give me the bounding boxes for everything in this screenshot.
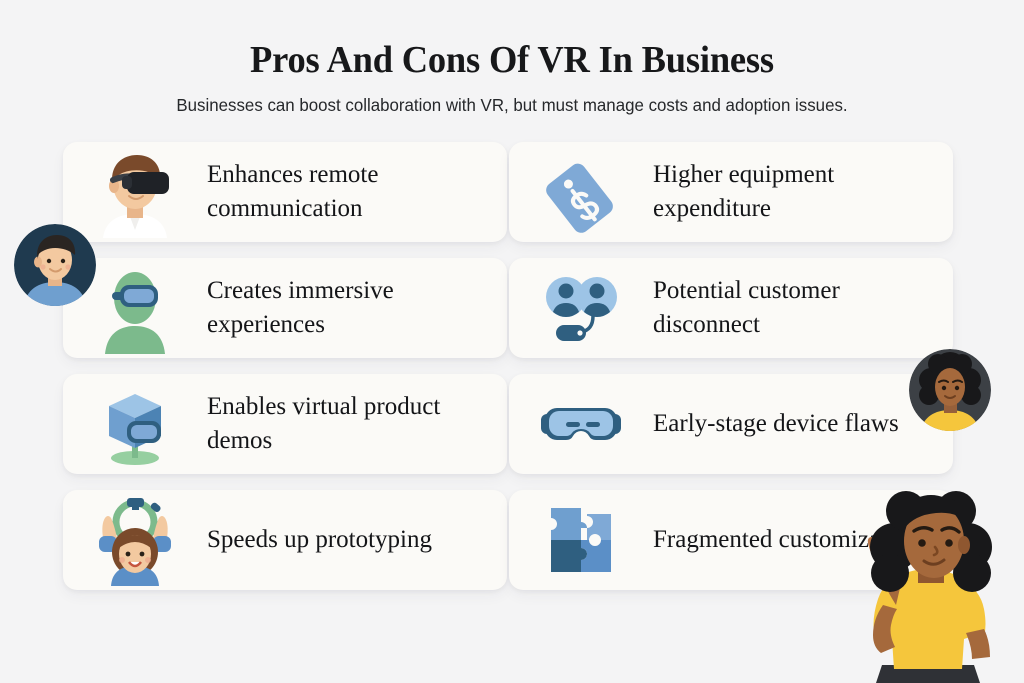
page-subtitle: Businesses can boost collaboration with … [18,94,1006,116]
cube-goggles-icon [89,378,181,470]
infographic-page: Pros And Cons Of VR In Business Business… [0,0,1024,683]
card-label: Higher equipment expenditure [653,158,923,226]
card-creates-immersive-experiences[interactable]: Creates immersive experiences [63,258,507,358]
card-label: Early-stage device flaws [653,407,899,441]
card-potential-customer-disconnect[interactable]: Potential customer disconnect [509,258,953,358]
card-label: Creates immersive experiences [207,274,477,342]
card-label: Enhances remote communication [207,158,477,226]
card-higher-equipment-expenditure[interactable]: Higher equipment expenditure [509,142,953,242]
page-title: Pros And Cons Of VR In Business [20,38,1003,82]
card-enables-virtual-product-demos[interactable]: Enables virtual product demos [63,374,507,474]
waving-woman-illustration [838,489,1024,683]
header: Pros And Cons Of VR In Business Business… [0,38,1024,116]
price-tag-dollar-icon [535,146,627,238]
avatar-man-dark-circle [14,224,96,306]
card-label: Speeds up prototyping [207,523,432,557]
pros-cons-grid: Enhances remote communication Higher equ… [63,142,953,590]
card-label: Enables virtual product demos [207,390,477,458]
vr-avatar-icon [89,262,181,354]
card-enhances-remote-communication[interactable]: Enhances remote communication [63,142,507,242]
vr-headset-person-icon [89,146,181,238]
vr-goggles-front-icon [535,378,627,470]
users-disconnect-icon [535,262,627,354]
card-label: Potential customer disconnect [653,274,923,342]
card-speeds-up-prototyping[interactable]: Speeds up prototyping [63,490,507,590]
card-early-stage-device-flaws[interactable]: Early-stage device flaws [509,374,953,474]
puzzle-pieces-icon [535,494,627,586]
stopwatch-cheer-icon [89,494,181,586]
avatar-woman-dark-circle [909,349,991,431]
